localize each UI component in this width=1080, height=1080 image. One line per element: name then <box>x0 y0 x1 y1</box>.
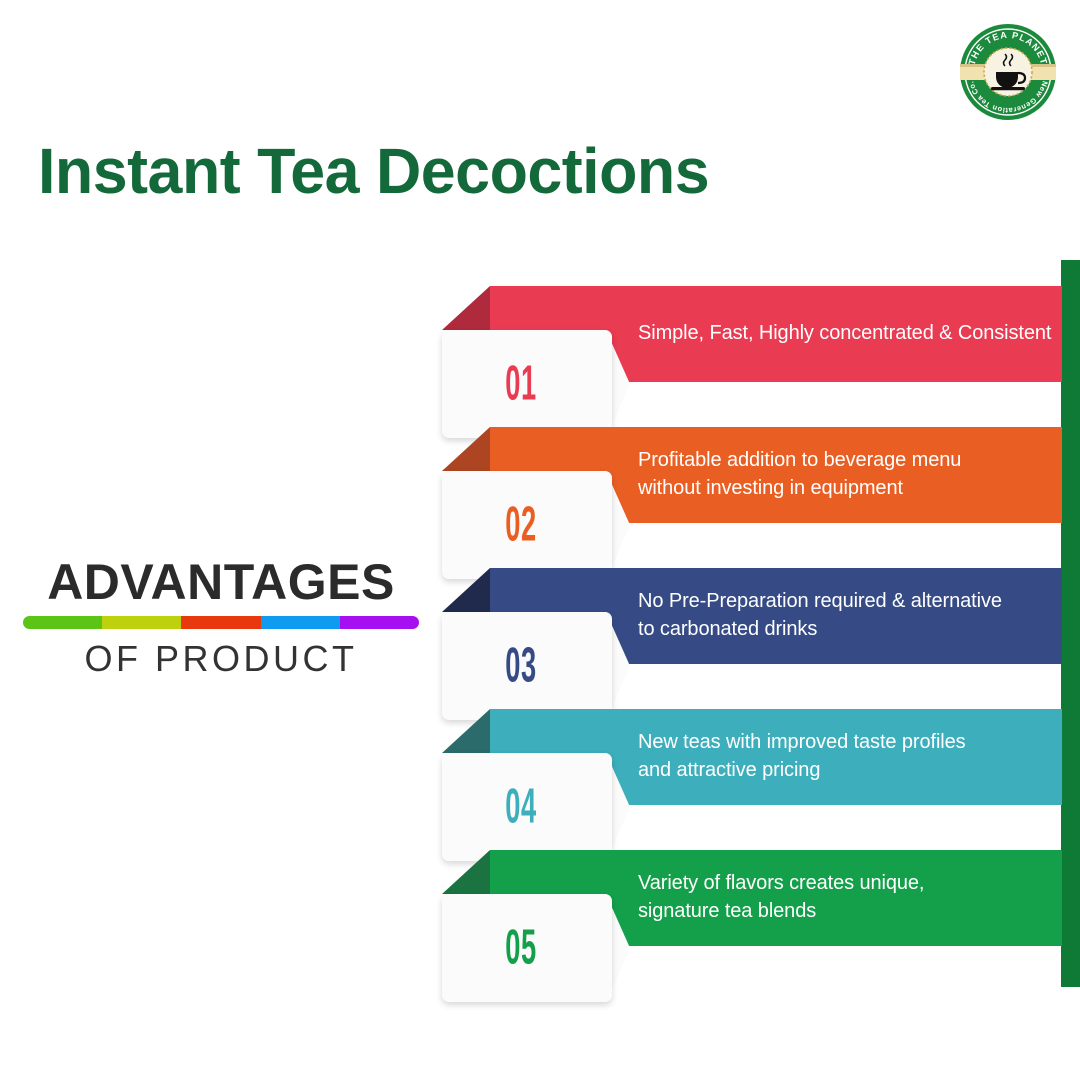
ribbon-text: Simple, Fast, Highly concentrated & Cons… <box>638 286 1056 382</box>
divider-segment-4 <box>261 616 340 629</box>
ribbon-text: No Pre-Preparation required & alternativ… <box>638 568 1056 664</box>
ribbon-text-line-2: to carbonated drinks <box>638 616 1056 644</box>
ribbon-text-line-1: Variety of flavors creates unique, <box>638 870 1056 898</box>
page-title: Instant Tea Decoctions <box>38 136 709 208</box>
advantages-heading-block: ADVANTAGES OF PRODUCT <box>22 557 420 677</box>
ribbon-text-line-2: signature tea blends <box>638 898 1056 926</box>
advantage-row-02[interactable]: 02Profitable addition to beverage menuwi… <box>442 403 1062 533</box>
color-divider <box>23 616 419 629</box>
divider-segment-3 <box>181 616 260 629</box>
divider-segment-1 <box>23 616 102 629</box>
ribbon-number-05: 05 <box>472 888 570 1009</box>
advantage-row-04[interactable]: 04New teas with improved taste profilesa… <box>442 685 1062 815</box>
advantages-subtitle: OF PRODUCT <box>22 641 420 677</box>
advantage-row-01[interactable]: 01Simple, Fast, Highly concentrated & Co… <box>442 262 1062 392</box>
divider-segment-2 <box>102 616 181 629</box>
ribbon-text-line-1: Simple, Fast, Highly concentrated & Cons… <box>638 320 1056 348</box>
advantage-row-05[interactable]: 05Variety of flavors creates unique,sign… <box>442 826 1062 956</box>
ribbon-text: New teas with improved taste profilesand… <box>638 709 1056 805</box>
ribbon-text-line-1: New teas with improved taste profiles <box>638 729 1056 757</box>
the-tea-planet-logo: THE TEA PLANET New Generation Tea Co. <box>958 22 1058 122</box>
logo-svg: THE TEA PLANET New Generation Tea Co. <box>958 22 1058 122</box>
ribbon-text: Profitable addition to beverage menuwith… <box>638 427 1056 523</box>
ribbon-text-line-1: Profitable addition to beverage menu <box>638 447 1056 475</box>
divider-segment-5 <box>340 616 419 629</box>
advantage-row-03[interactable]: 03No Pre-Preparation required & alternat… <box>442 544 1062 674</box>
ribbon-text: Variety of flavors creates unique,signat… <box>638 850 1056 946</box>
right-green-spine <box>1061 260 1080 987</box>
ribbon-text-line-1: No Pre-Preparation required & alternativ… <box>638 588 1056 616</box>
ribbon-text-line-2: without investing in equipment <box>638 475 1056 503</box>
advantages-word: ADVANTAGES <box>22 557 420 607</box>
slide-canvas: THE TEA PLANET New Generation Tea Co. In… <box>0 0 1080 1080</box>
ribbon-text-line-2: and attractive pricing <box>638 757 1056 785</box>
